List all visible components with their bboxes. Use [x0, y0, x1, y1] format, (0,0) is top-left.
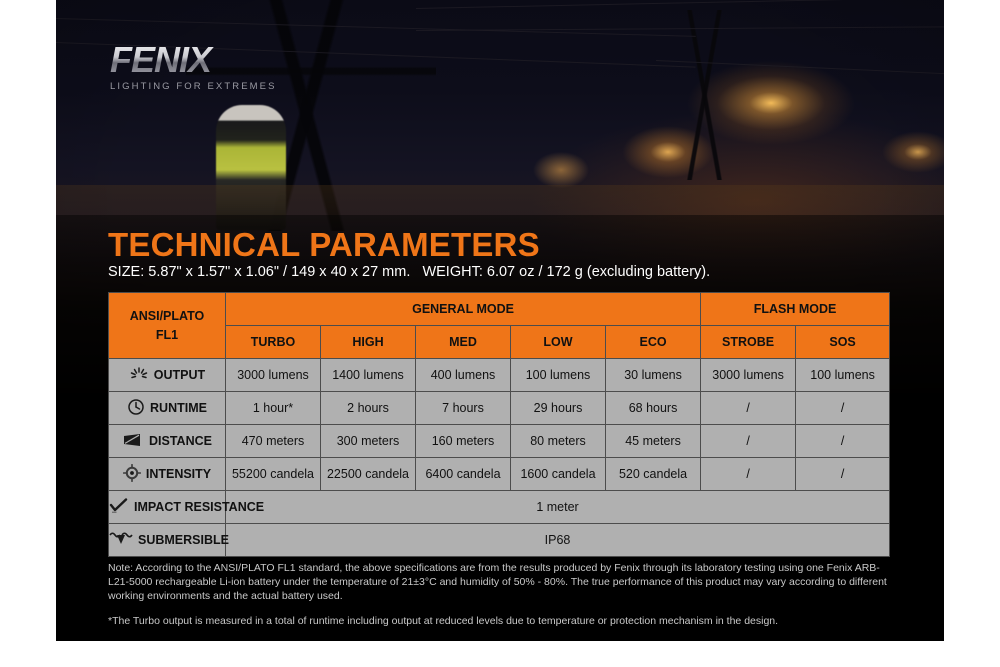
cell-intensity-turbo: 55200 candela: [226, 458, 321, 491]
cell-output-high: 1400 lumens: [321, 359, 416, 392]
mode-header-high: HIGH: [321, 326, 416, 359]
corner-label-line1: ANSI/PLATO: [130, 309, 205, 323]
row-label-distance: DISTANCE: [109, 425, 226, 458]
table-header-group-row: ANSI/PLATOFL1 GENERAL MODE FLASH MODE: [109, 293, 890, 326]
mode-header-turbo: TURBO: [226, 326, 321, 359]
impact-hammer-icon: [109, 498, 129, 517]
mode-header-eco: ECO: [606, 326, 701, 359]
cell-runtime-med: 7 hours: [416, 392, 511, 425]
row-label-output: OUTPUT: [109, 359, 226, 392]
cell-submersible-value: IP68: [226, 524, 890, 557]
fenix-logo-wordmark: FENIX: [110, 42, 277, 78]
cell-runtime-eco: 68 hours: [606, 392, 701, 425]
crosshair-intensity-icon: [123, 464, 141, 485]
row-label-impact-resistance: IMPACT RESISTANCE: [109, 491, 226, 524]
row-label-intensity: INTENSITY: [109, 458, 226, 491]
cell-intensity-med: 6400 candela: [416, 458, 511, 491]
cell-intensity-strobe: /: [701, 458, 796, 491]
row-label-runtime: RUNTIME: [109, 392, 226, 425]
cell-distance-sos: /: [796, 425, 890, 458]
cell-runtime-high: 2 hours: [321, 392, 416, 425]
fenix-logo: FENIX LIGHTING FOR EXTREMES: [110, 42, 277, 92]
cell-output-sos: 100 lumens: [796, 359, 890, 392]
cell-intensity-high: 22500 candela: [321, 458, 416, 491]
cell-distance-low: 80 meters: [511, 425, 606, 458]
footnotes: Note: According to the ANSI/PLATO FL1 st…: [108, 561, 894, 628]
table-row: INTENSITY 55200 candela 22500 candela 64…: [109, 458, 890, 491]
cell-distance-high: 300 meters: [321, 425, 416, 458]
cell-distance-med: 160 meters: [416, 425, 511, 458]
screenshot-root: FENIX LIGHTING FOR EXTREMES TECHNICAL PA…: [0, 0, 1000, 667]
table-row: OUTPUT 3000 lumens 1400 lumens 400 lumen…: [109, 359, 890, 392]
water-wave-icon: [109, 531, 133, 550]
cell-output-eco: 30 lumens: [606, 359, 701, 392]
page-title: TECHNICAL PARAMETERS: [108, 228, 540, 261]
light-burst-icon: [129, 367, 149, 384]
row-label-text: IMPACT RESISTANCE: [134, 500, 264, 514]
table-row: RUNTIME 1 hour* 2 hours 7 hours 29 hours…: [109, 392, 890, 425]
note-main: Note: According to the ANSI/PLATO FL1 st…: [108, 561, 894, 604]
cell-intensity-low: 1600 candela: [511, 458, 606, 491]
cell-output-strobe: 3000 lumens: [701, 359, 796, 392]
ansi-plato-corner-cell: ANSI/PLATOFL1: [109, 293, 226, 359]
beam-distance-icon: [122, 433, 144, 450]
cell-output-low: 100 lumens: [511, 359, 606, 392]
row-label-submersible: SUBMERSIBLE: [109, 524, 226, 557]
cell-distance-eco: 45 meters: [606, 425, 701, 458]
group-header-flash-mode: FLASH MODE: [701, 293, 890, 326]
cell-output-turbo: 3000 lumens: [226, 359, 321, 392]
row-label-text: INTENSITY: [146, 467, 211, 481]
note-asterisk: *The Turbo output is measured in a total…: [108, 614, 894, 628]
size-weight-line: SIZE: 5.87" x 1.57" x 1.06" / 149 x 40 x…: [108, 264, 710, 280]
mode-header-strobe: STROBE: [701, 326, 796, 359]
mode-header-med: MED: [416, 326, 511, 359]
cell-impact-resistance-value: 1 meter: [226, 491, 890, 524]
cell-runtime-sos: /: [796, 392, 890, 425]
table-row: SUBMERSIBLE IP68: [109, 524, 890, 557]
cell-runtime-turbo: 1 hour*: [226, 392, 321, 425]
row-label-text: DISTANCE: [149, 434, 212, 448]
clock-icon: [127, 398, 145, 419]
row-label-text: RUNTIME: [150, 401, 207, 415]
row-label-text: OUTPUT: [154, 368, 205, 382]
mode-header-low: LOW: [511, 326, 606, 359]
cell-runtime-low: 29 hours: [511, 392, 606, 425]
mode-header-sos: SOS: [796, 326, 890, 359]
cell-distance-strobe: /: [701, 425, 796, 458]
technical-parameters-table: ANSI/PLATOFL1 GENERAL MODE FLASH MODE TU…: [108, 292, 890, 557]
row-label-text: SUBMERSIBLE: [138, 533, 229, 547]
cell-intensity-eco: 520 candela: [606, 458, 701, 491]
cell-output-med: 400 lumens: [416, 359, 511, 392]
table-row: IMPACT RESISTANCE 1 meter: [109, 491, 890, 524]
cell-distance-turbo: 470 meters: [226, 425, 321, 458]
group-header-general-mode: GENERAL MODE: [226, 293, 701, 326]
table-mode-header-row: TURBO HIGH MED LOW ECO STROBE SOS: [109, 326, 890, 359]
fenix-logo-tagline: LIGHTING FOR EXTREMES: [110, 81, 277, 92]
corner-label-line2: FL1: [156, 328, 178, 342]
cell-runtime-strobe: /: [701, 392, 796, 425]
cell-intensity-sos: /: [796, 458, 890, 491]
table-row: DISTANCE 470 meters 300 meters 160 meter…: [109, 425, 890, 458]
